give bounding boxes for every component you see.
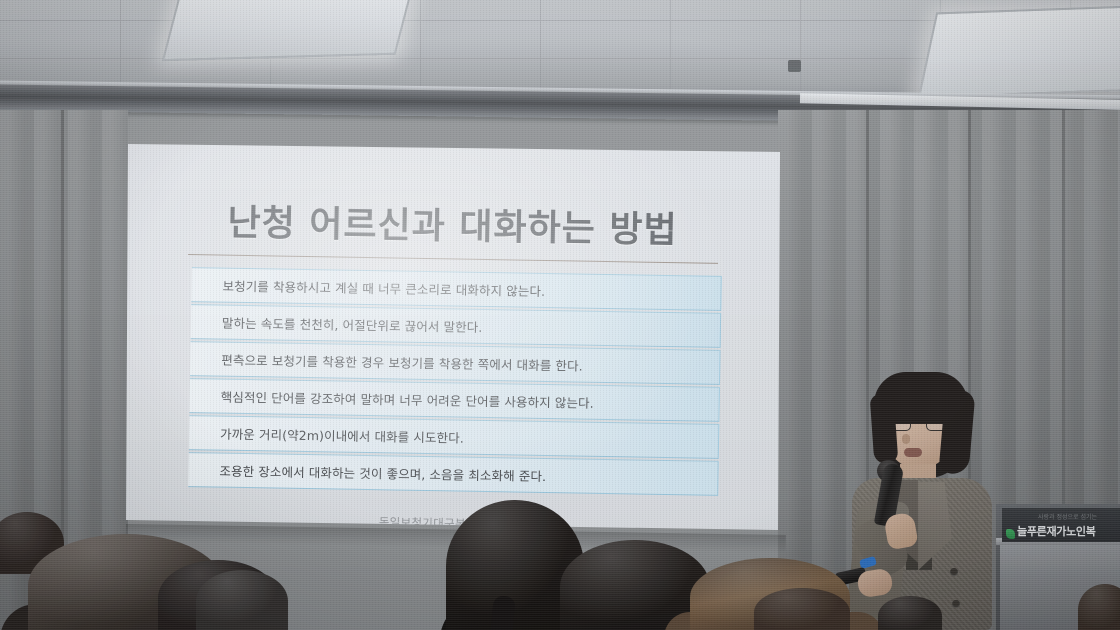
presenter-nose bbox=[902, 434, 910, 444]
presenter bbox=[830, 372, 1000, 630]
presenter-hair-side bbox=[870, 393, 899, 465]
projection-screen: 난청 어르신과 대화하는 방법 보청기를 착용하시고 계실 때 너무 큰소리로 … bbox=[126, 138, 782, 538]
audience-head bbox=[754, 588, 850, 630]
presenter-mouth bbox=[904, 448, 922, 457]
screen-surface: 난청 어르신과 대화하는 방법 보청기를 착용하시고 계실 때 너무 큰소리로 … bbox=[126, 138, 782, 538]
slide-row: 가까운 거리(약2m)이내에서 대화를 시도한다. bbox=[189, 415, 720, 459]
podium-sign-subtext: 사랑과 정성으로 섬기는 bbox=[1038, 512, 1097, 521]
audience-ponytail bbox=[490, 595, 516, 630]
lecture-room-photo: 난청 어르신과 대화하는 방법 보청기를 착용하시고 계실 때 너무 큰소리로 … bbox=[0, 0, 1120, 630]
slide-row-text: 편측으로 보청기를 착용한 경우 보청기를 착용한 쪽에서 대화를 한다. bbox=[190, 349, 583, 375]
slide-row: 조용한 장소에서 대화하는 것이 좋으며, 소음을 최소화해 준다. bbox=[188, 452, 719, 496]
slide-title: 난청 어르신과 대화하는 방법 bbox=[124, 192, 781, 255]
slide-row: 보청기를 착용하시고 계실 때 너무 큰소리로 대화하지 않는다. bbox=[191, 267, 722, 311]
title-divider bbox=[188, 254, 718, 264]
jacket-button bbox=[952, 600, 960, 608]
jacket-button bbox=[950, 568, 958, 576]
podium-sign: 사랑과 정성으로 섬기는 늘푸른재가노인복 bbox=[1002, 508, 1120, 542]
organization-logo-icon bbox=[1006, 529, 1015, 539]
slide-row-text: 말하는 속도를 천천히, 어절단위로 끊어서 말한다. bbox=[191, 312, 483, 336]
slide-row-text: 조용한 장소에서 대화하는 것이 좋으며, 소음을 최소화해 준다. bbox=[188, 460, 546, 485]
slide-row-text: 핵심적인 단어를 강조하여 말하며 너무 어려운 단어를 사용하지 않는다. bbox=[190, 386, 594, 412]
podium-sign-text: 늘푸른재가노인복 bbox=[1017, 523, 1096, 539]
slide-content: 난청 어르신과 대화하는 방법 보청기를 착용하시고 계실 때 너무 큰소리로 … bbox=[119, 138, 782, 547]
presenter-hair-side bbox=[938, 389, 975, 475]
audience-head bbox=[196, 570, 288, 630]
ceiling-light-panel-left bbox=[162, 0, 414, 61]
audience-head bbox=[878, 596, 942, 630]
slide-bullet-rows: 보청기를 착용하시고 계실 때 너무 큰소리로 대화하지 않는다. 말하는 속도… bbox=[188, 267, 722, 498]
slide-row: 핵심적인 단어를 강조하여 말하며 너무 어려운 단어를 사용하지 않는다. bbox=[189, 378, 720, 422]
ceiling-sensor-icon bbox=[788, 60, 801, 72]
slide-row: 편측으로 보청기를 착용한 경우 보청기를 착용한 쪽에서 대화를 한다. bbox=[190, 341, 721, 385]
ceiling-light-panel-right bbox=[918, 4, 1120, 99]
slide-row-text: 보청기를 착용하시고 계실 때 너무 큰소리로 대화하지 않는다. bbox=[191, 275, 545, 300]
slide-row: 말하는 속도를 천천히, 어절단위로 끊어서 말한다. bbox=[191, 304, 722, 348]
slide-row-text: 가까운 거리(약2m)이내에서 대화를 시도한다. bbox=[189, 423, 464, 447]
